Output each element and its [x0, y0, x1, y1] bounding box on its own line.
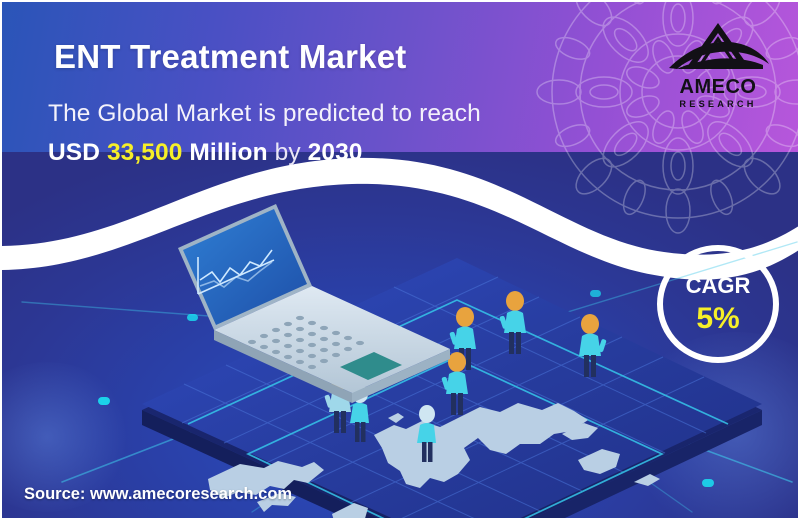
subtitle-line-2: USD 33,500 Million by 2030 — [48, 139, 363, 167]
ameco-triangle-icon — [663, 20, 773, 76]
market-value: 33,500 — [107, 139, 183, 166]
infographic-canvas: ENT Treatment Market The Global Market i… — [0, 0, 800, 520]
source-text: Source: www.amecoresearch.com — [24, 485, 292, 504]
value-unit: Million — [189, 139, 267, 166]
cagr-value: 5% — [696, 304, 739, 334]
currency-label: USD — [48, 139, 100, 166]
page-title: ENT Treatment Market — [54, 38, 406, 76]
cagr-badge: CAGR 5% — [657, 245, 779, 363]
cagr-label: CAGR — [686, 275, 751, 297]
subtitle-line-1: The Global Market is predicted to reach — [48, 100, 481, 128]
ameco-research-logo[interactable]: AMECO RESEARCH — [656, 20, 780, 112]
forecast-year: 2030 — [308, 139, 363, 166]
logo-name: AMECO — [656, 77, 780, 97]
by-label: by — [275, 139, 301, 166]
logo-subtitle: RESEARCH — [656, 100, 780, 109]
